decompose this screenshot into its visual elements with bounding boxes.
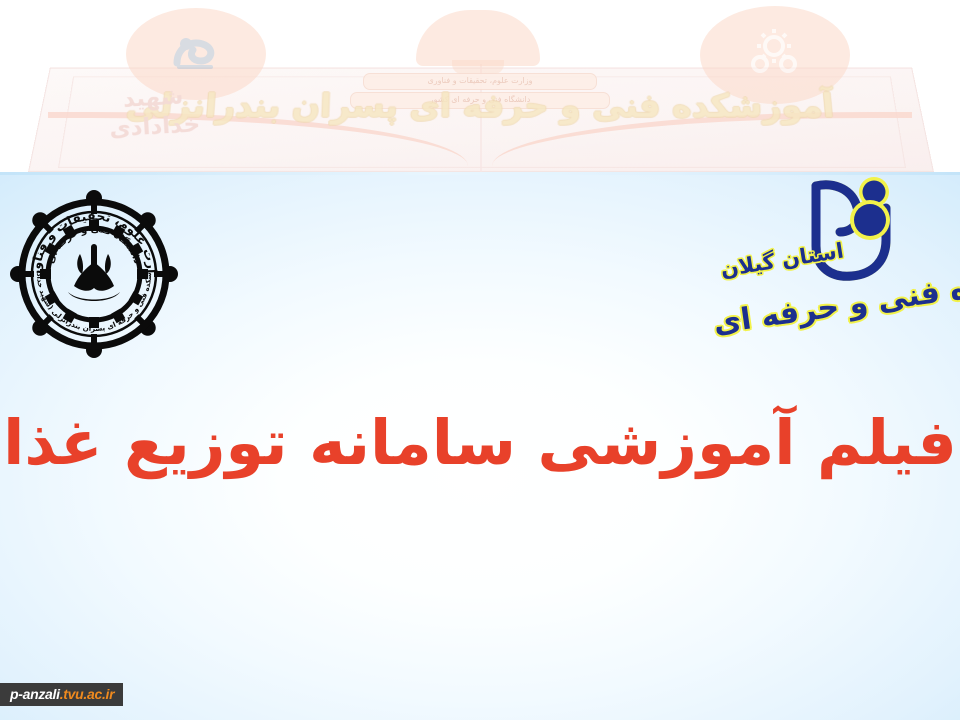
watermark-site: p-anzali: [10, 686, 60, 702]
slide-title: فیلم آموزشی سامانه توزیع غذا: [0, 410, 960, 475]
ministry-seal: وزارت علوم، تحقیقات و فناوری دانشگاه فنی…: [8, 188, 180, 360]
crest-base: [452, 60, 504, 74]
header-letterhead-banner: وزارت علوم، تحقیقات و فناوری دانشگاه فنی…: [0, 0, 960, 172]
watermark-tld: .tvu.ac.ir: [60, 686, 115, 702]
site-watermark: p-anzali.tvu.ac.ir: [0, 683, 123, 706]
tvu-monogram-icon: [770, 174, 920, 294]
fan-crest-icon: [416, 10, 540, 66]
slide-body: وزارت علوم، تحقیقات و فناوری دانشگاه فنی…: [0, 172, 960, 720]
presentation-slide: وزارت علوم، تحقیقات و فناوری دانشگاه فنی…: [0, 0, 960, 720]
tvu-gilan-logo: استان گیلان دانشگاه فنی و حرفه ای: [718, 174, 954, 346]
